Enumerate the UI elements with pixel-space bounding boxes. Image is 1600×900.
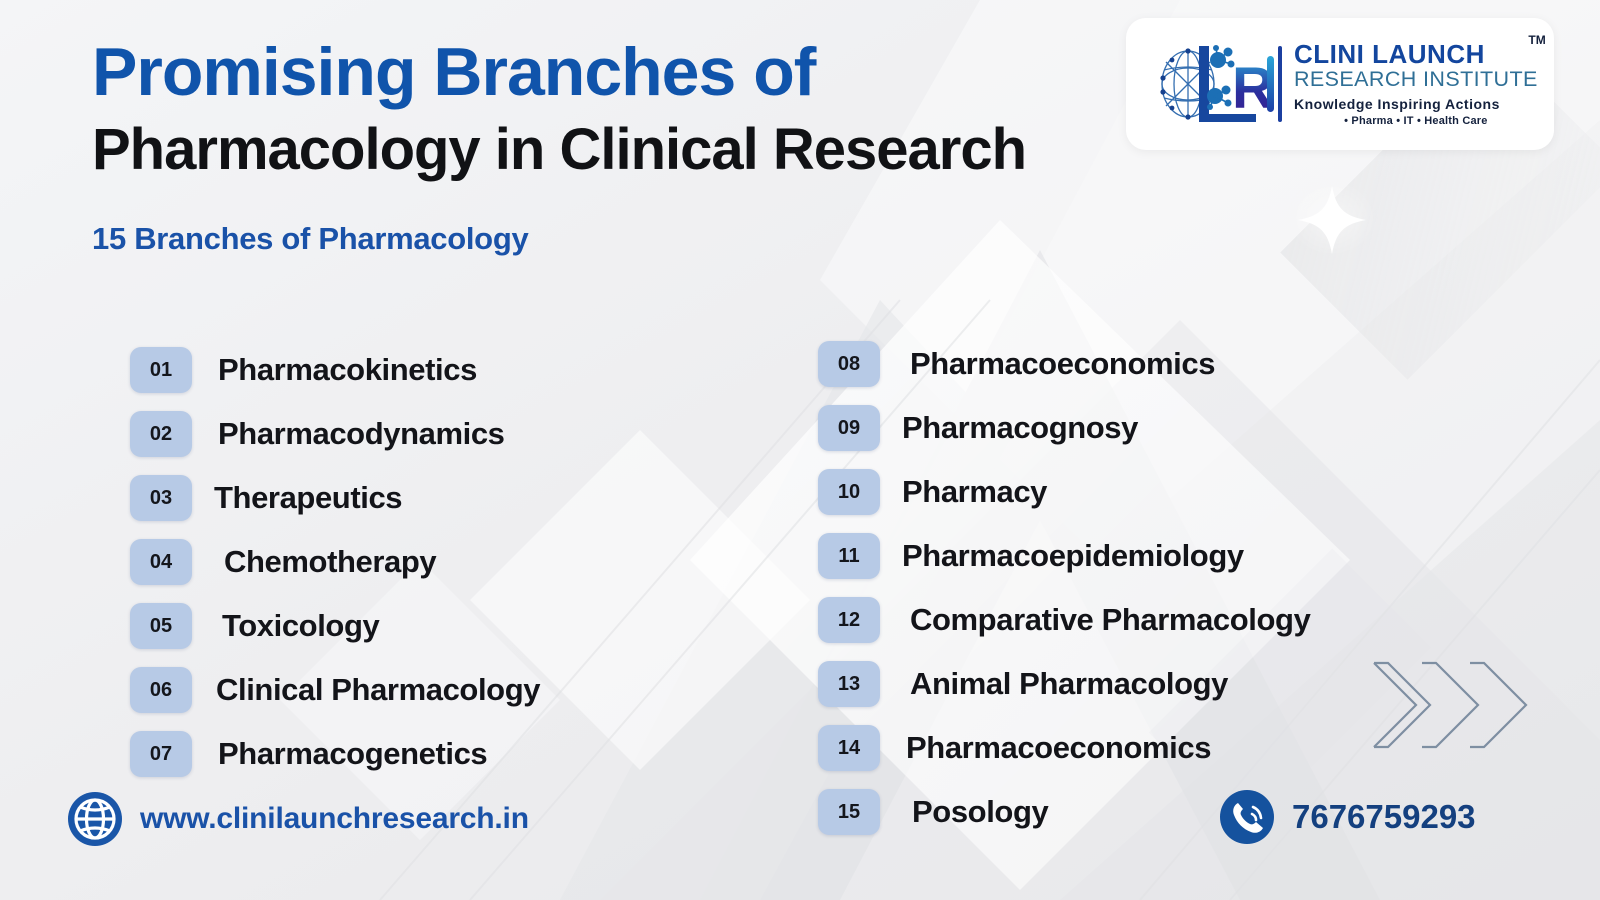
branch-label: Chemotherapy bbox=[224, 544, 436, 580]
branch-item-04[interactable]: 04Chemotherapy bbox=[130, 530, 540, 594]
branch-label: Pharmacognosy bbox=[902, 410, 1138, 446]
branch-label: Comparative Pharmacology bbox=[910, 602, 1310, 638]
branch-number-badge: 09 bbox=[818, 405, 880, 451]
branch-number-badge: 01 bbox=[130, 347, 192, 393]
branch-number-badge: 02 bbox=[130, 411, 192, 457]
branch-label: Toxicology bbox=[222, 608, 379, 644]
branch-list-left: 01Pharmacokinetics02Pharmacodynamics03Th… bbox=[130, 338, 540, 786]
branch-number-badge: 13 bbox=[818, 661, 880, 707]
cri-globe-icon: R bbox=[1152, 34, 1274, 134]
logo-divider bbox=[1278, 46, 1282, 122]
branch-label: Pharmacokinetics bbox=[218, 352, 477, 388]
branch-number-badge: 04 bbox=[130, 539, 192, 585]
logo-name-line2: RESEARCH INSTITUTE bbox=[1294, 68, 1538, 92]
branch-label: Pharmacoeconomics bbox=[906, 730, 1211, 766]
branch-item-03[interactable]: 03Therapeutics bbox=[130, 466, 540, 530]
branch-number-badge: 10 bbox=[818, 469, 880, 515]
branch-label: Pharmacogenetics bbox=[218, 736, 487, 772]
logo-name-line1: CLINI LAUNCH bbox=[1294, 41, 1538, 67]
page-subtitle: 15 Branches of Pharmacology bbox=[92, 221, 1026, 257]
page-title-line2: Pharmacology in Clinical Research bbox=[92, 120, 1026, 181]
website-label: www.clinilaunchresearch.in bbox=[140, 802, 529, 836]
page-header: Promising Branches of Pharmacology in Cl… bbox=[92, 38, 1026, 257]
branch-number-badge: 12 bbox=[818, 597, 880, 643]
branch-label: Posology bbox=[912, 794, 1048, 830]
branch-item-13[interactable]: 13Animal Pharmacology bbox=[818, 652, 1310, 716]
branch-label: Pharmacy bbox=[902, 474, 1047, 510]
trademark-symbol: TM bbox=[1528, 33, 1545, 47]
branch-item-01[interactable]: 01Pharmacokinetics bbox=[130, 338, 540, 402]
branch-item-11[interactable]: 11Pharmacoepidemiology bbox=[818, 524, 1310, 588]
branch-item-14[interactable]: 14Pharmacoeconomics bbox=[818, 716, 1310, 780]
branch-label: Pharmacodynamics bbox=[218, 416, 505, 452]
chevron-arrows-icon bbox=[1368, 655, 1538, 755]
branch-label: Pharmacoepidemiology bbox=[902, 538, 1244, 574]
branch-item-05[interactable]: 05Toxicology bbox=[130, 594, 540, 658]
branch-item-02[interactable]: 02Pharmacodynamics bbox=[130, 402, 540, 466]
branch-number-badge: 06 bbox=[130, 667, 192, 713]
phone-label: 7676759293 bbox=[1292, 798, 1476, 836]
branch-label: Clinical Pharmacology bbox=[216, 672, 540, 708]
branch-item-08[interactable]: 08Pharmacoeconomics bbox=[818, 332, 1310, 396]
sparkle-icon bbox=[1286, 178, 1378, 258]
logo-tagline: Knowledge Inspiring Actions bbox=[1294, 96, 1538, 112]
logo-services: • Pharma • IT • Health Care bbox=[1294, 115, 1538, 127]
branch-number-badge: 07 bbox=[130, 731, 192, 777]
website-link[interactable]: www.clinilaunchresearch.in bbox=[66, 790, 529, 848]
branch-item-09[interactable]: 09Pharmacognosy bbox=[818, 396, 1310, 460]
branch-list-right: 08Pharmacoeconomics09Pharmacognosy10Phar… bbox=[818, 332, 1310, 844]
globe-icon bbox=[66, 790, 124, 848]
branch-number-badge: 11 bbox=[818, 533, 880, 579]
page-title-line1: Promising Branches of bbox=[92, 38, 1026, 106]
branch-number-badge: 15 bbox=[818, 789, 880, 835]
phone-contact[interactable]: 7676759293 bbox=[1218, 788, 1476, 846]
branch-label: Animal Pharmacology bbox=[910, 666, 1228, 702]
branch-number-badge: 03 bbox=[130, 475, 192, 521]
branch-label: Pharmacoeconomics bbox=[910, 346, 1215, 382]
brand-logo[interactable]: R TM CLINI LAUNCH RESEARCH INSTITUTE Kno… bbox=[1126, 18, 1554, 150]
branch-item-10[interactable]: 10Pharmacy bbox=[818, 460, 1310, 524]
phone-icon bbox=[1218, 788, 1276, 846]
branch-item-07[interactable]: 07Pharmacogenetics bbox=[130, 722, 540, 786]
branch-number-badge: 08 bbox=[818, 341, 880, 387]
branch-item-06[interactable]: 06Clinical Pharmacology bbox=[130, 658, 540, 722]
branch-number-badge: 14 bbox=[818, 725, 880, 771]
branch-number-badge: 05 bbox=[130, 603, 192, 649]
branch-item-12[interactable]: 12Comparative Pharmacology bbox=[818, 588, 1310, 652]
branch-label: Therapeutics bbox=[214, 480, 402, 516]
